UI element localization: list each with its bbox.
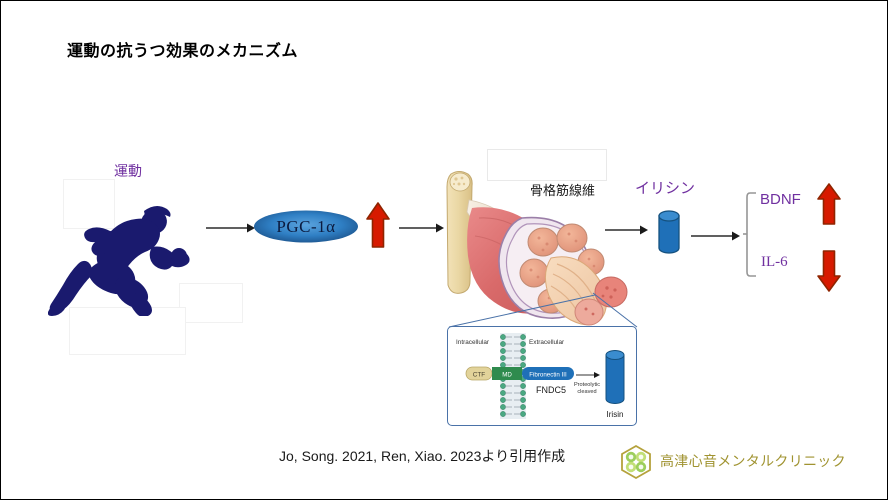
svg-text:cleaved: cleaved bbox=[577, 389, 596, 395]
exercise-label: 運動 bbox=[114, 161, 142, 181]
irisin-cylinder-icon bbox=[656, 209, 682, 260]
pgc1alpha-label: PGC-1α bbox=[253, 209, 359, 244]
svg-text:Extracellular: Extracellular bbox=[529, 339, 565, 346]
citation-text: Jo, Song. 2021, Ren, Xiao. 2023より引用作成 bbox=[279, 446, 565, 466]
svg-text:FNDC5: FNDC5 bbox=[536, 385, 566, 395]
output-label-bdnf: BDNF bbox=[760, 191, 801, 208]
svg-text:MD: MD bbox=[502, 372, 512, 379]
arrow-irisin-to-outputs bbox=[691, 229, 741, 248]
arrow-muscle-to-irisin bbox=[605, 223, 649, 242]
svg-text:Fibronectin III: Fibronectin III bbox=[529, 372, 567, 379]
page-title: 運動の抗うつ効果のメカニズム bbox=[67, 37, 298, 61]
outputs-bracket bbox=[743, 192, 757, 277]
svg-text:Proteolytic: Proteolytic bbox=[574, 382, 600, 388]
svg-text:Intracellular: Intracellular bbox=[456, 339, 490, 346]
pgc1alpha-node: PGC-1α bbox=[253, 209, 359, 244]
il6-decrease-arrow-icon bbox=[816, 249, 842, 298]
bdnf-increase-arrow-icon bbox=[816, 182, 842, 231]
output-label-il6: IL-6 bbox=[761, 254, 788, 271]
hexagon-clover-icon bbox=[618, 444, 654, 480]
muscle-fiber-label: 骨格筋線維 bbox=[530, 180, 595, 199]
svg-text:Irisin: Irisin bbox=[607, 410, 624, 419]
irisin-label: イリシン bbox=[635, 177, 695, 198]
pgc-increase-arrow-icon bbox=[365, 201, 391, 254]
runner-icon bbox=[48, 181, 198, 316]
clinic-name: 高津心音メンタルクリニック bbox=[660, 451, 846, 471]
fndc5-inset-panel: CTF MD Fibronectin III Intracellular Ext… bbox=[447, 326, 637, 426]
arrow-exercise-to-pgc bbox=[206, 221, 256, 240]
svg-text:CTF: CTF bbox=[473, 372, 486, 379]
slide-canvas: 運動の抗うつ効果のメカニズム 運動 bbox=[0, 0, 888, 500]
